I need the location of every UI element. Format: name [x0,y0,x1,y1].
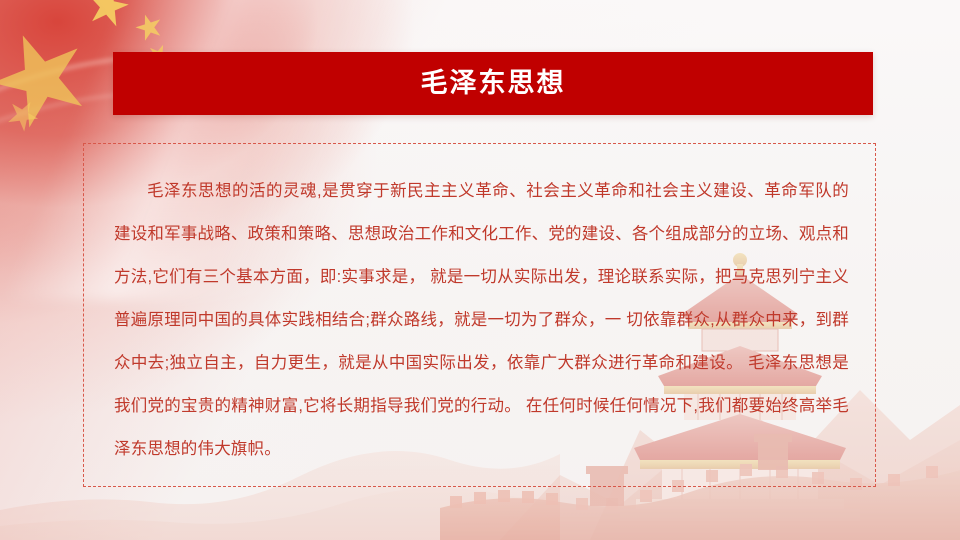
content-dashed-box: 毛泽东思想的活的灵魂,是贯穿于新民主主义革命、社会主义革命和社会主义建设、革命军… [83,143,876,487]
slide-canvas: 毛泽东思想 毛泽东思想的活的灵魂,是贯穿于新民主主义革命、社会主义革命和社会主义… [0,0,960,540]
page-title: 毛泽东思想 [421,70,566,97]
body-paragraph: 毛泽东思想的活的灵魂,是贯穿于新民主主义革命、社会主义革命和社会主义建设、革命军… [114,170,849,471]
slide-title-bar: 毛泽东思想 [113,52,873,115]
